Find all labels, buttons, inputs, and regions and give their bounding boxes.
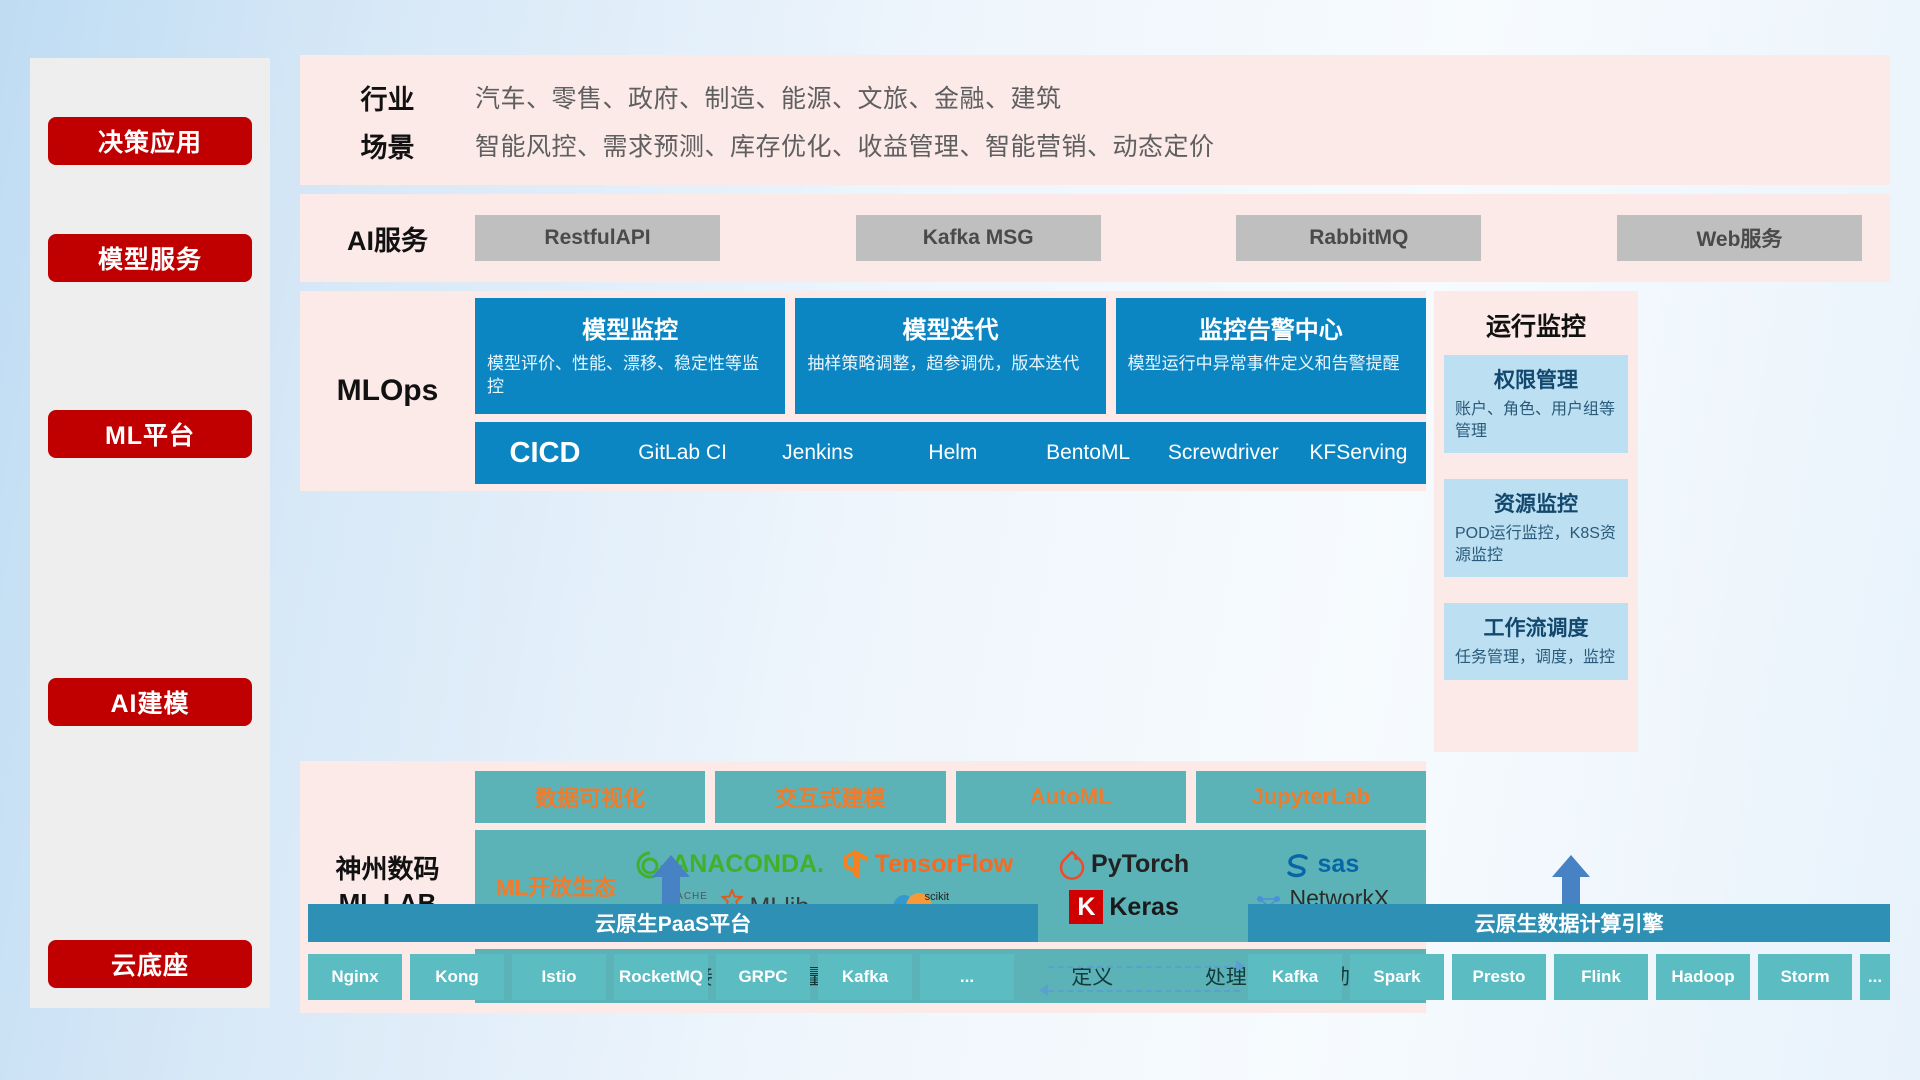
cloud-chip-nginx[interactable]: Nginx bbox=[308, 954, 402, 1000]
card-title: 模型迭代 bbox=[807, 310, 1093, 345]
cicd-item-screwdriver[interactable]: Screwdriver bbox=[1156, 442, 1291, 464]
lab-tool-jupyterlab[interactable]: JupyterLab bbox=[1196, 771, 1426, 823]
industry-label: 行业 bbox=[300, 78, 475, 117]
card-title: 工作流调度 bbox=[1455, 612, 1617, 642]
card-desc: POD运行监控，K8S资源监控 bbox=[1455, 523, 1617, 566]
service-box-rabbitmq[interactable]: RabbitMQ bbox=[1236, 215, 1481, 261]
ai-service-band: AI服务 RestfulAPI Kafka MSG RabbitMQ Web服务 bbox=[300, 194, 1890, 282]
card-desc: 账户、角色、用户组等管理 bbox=[1455, 399, 1617, 442]
cicd-item-jenkins[interactable]: Jenkins bbox=[750, 442, 885, 464]
scenario-row: 场景 智能风控、需求预测、库存优化、收益管理、智能营销、动态定价 bbox=[300, 121, 1890, 169]
cloud-chip-more-right[interactable]: ... bbox=[1860, 954, 1890, 1000]
arrow-stem-right bbox=[1562, 876, 1580, 906]
card-desc: 模型评价、性能、漂移、稳定性等监控 bbox=[487, 353, 773, 399]
ai-service-label: AI服务 bbox=[300, 219, 475, 258]
cloud-chip-presto[interactable]: Presto bbox=[1452, 954, 1546, 1000]
industry-scenario-band: 行业 汽车、零售、政府、制造、能源、文旅、金融、建筑 场景 智能风控、需求预测、… bbox=[300, 55, 1890, 185]
mlops-band: MLOps 模型监控 模型评价、性能、漂移、稳定性等监控 模型迭代 抽样策略调整… bbox=[300, 291, 1426, 491]
cicd-title: CICD bbox=[475, 437, 615, 470]
rail-chip-model-service[interactable]: 模型服务 bbox=[48, 234, 252, 282]
diagram-canvas: 决策应用 模型服务 ML平台 AI建模 云底座 行业 汽车、零售、政府、制造、能… bbox=[0, 0, 1920, 1080]
cloud-chip-storm[interactable]: Storm bbox=[1758, 954, 1852, 1000]
rail-chip-decision-app[interactable]: 决策应用 bbox=[48, 117, 252, 165]
cloud-data-engine-bar[interactable]: 云原生数据计算引擎 bbox=[1248, 904, 1890, 942]
cloud-paas-bar[interactable]: 云原生PaaS平台 bbox=[308, 904, 1038, 942]
monitor-card-permission[interactable]: 权限管理 账户、角色、用户组等管理 bbox=[1444, 355, 1628, 453]
lab-tools: 数据可视化 交互式建模 AutoML JupyterLab bbox=[475, 771, 1426, 823]
card-title: 模型监控 bbox=[487, 310, 773, 345]
mlops-card-model-monitoring[interactable]: 模型监控 模型评价、性能、漂移、稳定性等监控 bbox=[475, 298, 785, 414]
arrow-head-left bbox=[652, 855, 690, 877]
cicd-item-helm[interactable]: Helm bbox=[885, 442, 1020, 464]
monitor-card-resource[interactable]: 资源监控 POD运行监控，K8S资源监控 bbox=[1444, 479, 1628, 577]
rail-chip-cloud-base[interactable]: 云底座 bbox=[48, 940, 252, 988]
card-desc: 抽样策略调整，超参调优，版本迭代 bbox=[807, 353, 1093, 376]
card-desc: 模型运行中异常事件定义和告警提醒 bbox=[1128, 353, 1414, 376]
cloud-chip-flink[interactable]: Flink bbox=[1554, 954, 1648, 1000]
mlops-cards: 模型监控 模型评价、性能、漂移、稳定性等监控 模型迭代 抽样策略调整，超参调优，… bbox=[475, 298, 1426, 414]
runtime-monitoring-panel: 运行监控 权限管理 账户、角色、用户组等管理 资源监控 POD运行监控，K8S资… bbox=[1434, 291, 1638, 752]
mlops-card-alert-center[interactable]: 监控告警中心 模型运行中异常事件定义和告警提醒 bbox=[1116, 298, 1426, 414]
mlops-row-wrapper: MLOps 模型监控 模型评价、性能、漂移、稳定性等监控 模型迭代 抽样策略调整… bbox=[300, 291, 1890, 752]
dash-arrow-left bbox=[1039, 984, 1048, 996]
dashed-connector-left bbox=[1048, 990, 1240, 992]
dashed-connector-right bbox=[1048, 966, 1240, 968]
runtime-monitoring-title: 运行监控 bbox=[1434, 291, 1638, 343]
cloud-chip-kafka-left[interactable]: Kafka bbox=[818, 954, 912, 1000]
monitor-card-workflow[interactable]: 工作流调度 任务管理，调度，监控 bbox=[1444, 603, 1628, 680]
dash-arrow-right bbox=[1236, 960, 1245, 972]
cloud-chip-more-left[interactable]: ... bbox=[920, 954, 1014, 1000]
scenario-values: 智能风控、需求预测、库存优化、收益管理、智能营销、动态定价 bbox=[475, 127, 1215, 163]
cloud-chip-istio[interactable]: Istio bbox=[512, 954, 606, 1000]
industry-row: 行业 汽车、零售、政府、制造、能源、文旅、金融、建筑 bbox=[300, 73, 1890, 121]
layer-rail: 决策应用 模型服务 ML平台 AI建模 云底座 bbox=[30, 58, 270, 1008]
cloud-chip-kong[interactable]: Kong bbox=[410, 954, 504, 1000]
industry-values: 汽车、零售、政府、制造、能源、文旅、金融、建筑 bbox=[475, 79, 1062, 115]
service-box-restfulapi[interactable]: RestfulAPI bbox=[475, 215, 720, 261]
card-desc: 任务管理，调度，监控 bbox=[1455, 647, 1617, 669]
lab-tool-data-visualization[interactable]: 数据可视化 bbox=[475, 771, 705, 823]
service-box-kafka-msg[interactable]: Kafka MSG bbox=[856, 215, 1101, 261]
lab-tool-automl[interactable]: AutoML bbox=[956, 771, 1186, 823]
cicd-item-gitlab-ci[interactable]: GitLab CI bbox=[615, 442, 750, 464]
ai-service-items: RestfulAPI Kafka MSG RabbitMQ Web服务 bbox=[475, 215, 1890, 261]
mlops-card-model-iteration[interactable]: 模型迭代 抽样策略调整，超参调优，版本迭代 bbox=[795, 298, 1105, 414]
cloud-chip-rocketmq[interactable]: RocketMQ bbox=[614, 954, 708, 1000]
card-title: 权限管理 bbox=[1455, 364, 1617, 394]
arrow-stem-left bbox=[662, 876, 680, 906]
cloud-chip-hadoop[interactable]: Hadoop bbox=[1656, 954, 1750, 1000]
cloud-base-section: 云原生PaaS平台 云原生数据计算引擎 Nginx Kong Istio Roc… bbox=[300, 862, 1890, 1022]
rail-chip-ai-modeling[interactable]: AI建模 bbox=[48, 678, 252, 726]
scenario-label: 场景 bbox=[300, 126, 475, 165]
cicd-item-bentoml[interactable]: BentoML bbox=[1021, 442, 1156, 464]
card-title: 监控告警中心 bbox=[1128, 310, 1414, 345]
cicd-bar: CICD GitLab CI Jenkins Helm BentoML Scre… bbox=[475, 422, 1426, 484]
mlops-label: MLOps bbox=[300, 374, 475, 408]
lab-tool-interactive-modeling[interactable]: 交互式建模 bbox=[715, 771, 945, 823]
cloud-chip-kafka-right[interactable]: Kafka bbox=[1248, 954, 1342, 1000]
service-box-web-service[interactable]: Web服务 bbox=[1617, 215, 1862, 261]
card-title: 资源监控 bbox=[1455, 488, 1617, 518]
arrow-head-right bbox=[1552, 855, 1590, 877]
cloud-chip-grpc[interactable]: GRPC bbox=[716, 954, 810, 1000]
cloud-chip-spark[interactable]: Spark bbox=[1350, 954, 1444, 1000]
cicd-item-kfserving[interactable]: KFServing bbox=[1291, 442, 1426, 464]
rail-chip-ml-platform[interactable]: ML平台 bbox=[48, 410, 252, 458]
